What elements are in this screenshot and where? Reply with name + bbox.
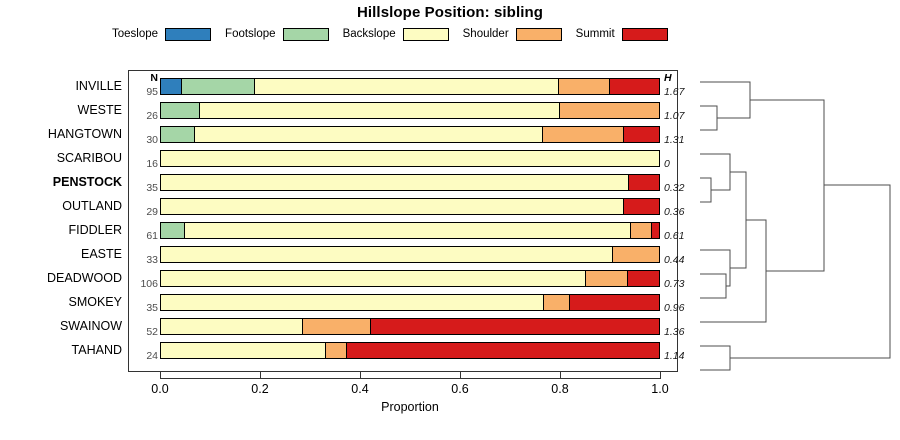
legend-entry-footslope: Footslope: [225, 28, 329, 41]
stacked-bar: [160, 198, 660, 215]
bar-segment-shoulder: [326, 343, 347, 358]
x-tick: [360, 372, 361, 379]
row-count-n: 33: [128, 254, 158, 266]
stacked-bar: [160, 318, 660, 335]
bar-segment-summit: [652, 223, 659, 238]
row-count-n: 26: [128, 110, 158, 122]
bar-segment-summit: [347, 343, 659, 358]
dendrogram-svg: [680, 62, 900, 380]
stacked-bar: [160, 102, 660, 119]
row-count-n: 106: [128, 278, 158, 290]
x-axis-title: Proportion: [160, 400, 660, 414]
stacked-bar: [160, 174, 660, 191]
bar-segment-backslope: [161, 199, 624, 214]
bar-segment-footslope: [182, 79, 255, 94]
row-label-inville: INVILLE: [0, 74, 122, 98]
bar-segment-backslope: [255, 79, 559, 94]
bar-segment-summit: [628, 271, 659, 286]
legend-label: Footslope: [225, 28, 276, 40]
row-label-penstock: PENSTOCK: [0, 170, 122, 194]
stacked-bar: [160, 78, 660, 95]
stacked-bar: [160, 222, 660, 239]
bar-segment-footslope: [161, 223, 185, 238]
bar-segment-footslope: [161, 127, 195, 142]
row-label-scaribou: SCARIBOU: [0, 146, 122, 170]
legend-label: Toeslope: [112, 28, 158, 40]
bar-segment-summit: [371, 319, 659, 334]
x-tick: [560, 372, 561, 379]
legend: ToeslopeFootslopeBackslopeShoulderSummit: [112, 25, 712, 43]
bar-segment-backslope: [195, 127, 542, 142]
legend-swatch-icon: [403, 28, 449, 41]
x-tick-label: 0.0: [135, 382, 185, 396]
legend-label: Summit: [576, 28, 615, 40]
x-axis-line: [160, 378, 660, 379]
bar-segment-summit: [629, 175, 659, 190]
legend-entry-shoulder: Shoulder: [463, 28, 562, 41]
dendrogram: [680, 62, 900, 380]
legend-entry-backslope: Backslope: [343, 28, 449, 41]
x-tick: [260, 372, 261, 379]
row-count-n: 30: [128, 134, 158, 146]
row-count-n: 61: [128, 230, 158, 242]
stacked-bar: [160, 150, 660, 167]
bar-segment-shoulder: [544, 295, 570, 310]
row-count-n: 29: [128, 206, 158, 218]
legend-label: Shoulder: [463, 28, 509, 40]
bar-segment-shoulder: [560, 103, 659, 118]
stacked-bar: [160, 246, 660, 263]
bar-segment-backslope: [161, 295, 544, 310]
bar-segment-backslope: [185, 223, 631, 238]
bar-segment-summit: [570, 295, 659, 310]
bar-segment-shoulder: [631, 223, 652, 238]
row-label-swainow: SWAINOW: [0, 314, 122, 338]
bar-segment-shoulder: [559, 79, 609, 94]
stacked-bar: [160, 126, 660, 143]
legend-swatch-icon: [283, 28, 329, 41]
legend-swatch-icon: [622, 28, 668, 41]
bar-segment-shoulder: [543, 127, 625, 142]
legend-entry-toeslope: Toeslope: [112, 28, 211, 41]
page-title: Hillslope Position: sibling: [0, 4, 900, 21]
legend-swatch-icon: [516, 28, 562, 41]
x-tick-label: 1.0: [635, 382, 685, 396]
bar-segment-backslope: [200, 103, 560, 118]
row-count-n: 35: [128, 182, 158, 194]
row-label-easte: EASTE: [0, 242, 122, 266]
row-count-n: 35: [128, 302, 158, 314]
x-tick-label: 0.2: [235, 382, 285, 396]
row-label-tahand: TAHAND: [0, 338, 122, 362]
bar-segment-backslope: [161, 175, 629, 190]
bar-segment-summit: [624, 199, 659, 214]
bar-segment-footslope: [161, 103, 200, 118]
row-label-hangtown: HANGTOWN: [0, 122, 122, 146]
bar-segment-backslope: [161, 151, 659, 166]
x-tick-label: 0.8: [535, 382, 585, 396]
row-label-deadwood: DEADWOOD: [0, 266, 122, 290]
x-tick: [160, 372, 161, 379]
bar-segment-summit: [624, 127, 659, 142]
stacked-bar: [160, 342, 660, 359]
legend-entry-summit: Summit: [576, 28, 668, 41]
x-tick-label: 0.6: [435, 382, 485, 396]
x-tick: [660, 372, 661, 379]
bar-segment-shoulder: [586, 271, 628, 286]
bar-segment-backslope: [161, 247, 613, 262]
bar-segment-summit: [610, 79, 659, 94]
legend-label: Backslope: [343, 28, 396, 40]
bar-segment-toeslope: [161, 79, 182, 94]
row-count-n: 16: [128, 158, 158, 170]
bar-segment-shoulder: [613, 247, 659, 262]
row-count-n: 95: [128, 86, 158, 98]
x-tick-label: 0.4: [335, 382, 385, 396]
bar-segment-backslope: [161, 319, 303, 334]
bar-segment-backslope: [161, 271, 586, 286]
x-tick: [460, 372, 461, 379]
row-label-smokey: SMOKEY: [0, 290, 122, 314]
bar-segment-backslope: [161, 343, 326, 358]
row-label-fiddler: FIDDLER: [0, 218, 122, 242]
bar-segment-shoulder: [303, 319, 371, 334]
row-label-weste: WESTE: [0, 98, 122, 122]
row-label-outland: OUTLAND: [0, 194, 122, 218]
legend-swatch-icon: [165, 28, 211, 41]
row-count-n: 24: [128, 350, 158, 362]
stacked-bar: [160, 270, 660, 287]
row-count-n: 52: [128, 326, 158, 338]
stacked-bar: [160, 294, 660, 311]
